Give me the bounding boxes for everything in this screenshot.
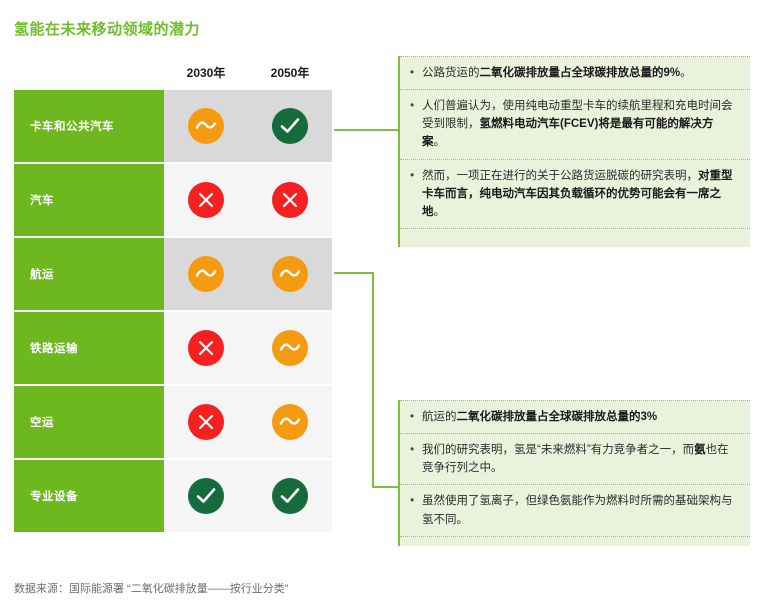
partial-potential-icon: [188, 256, 224, 292]
bullet-item: 人们普遍认为，使用纯电动重型卡车的续航里程和充电时间会受到限制，氢燃料电动汽车(…: [400, 89, 750, 159]
row-label-5: 专业设备: [14, 460, 164, 532]
bullet-item: 公路货运的二氧化碳排放量占全球碳排放总量的9%。: [400, 56, 750, 90]
bullet-text: 。: [680, 67, 692, 79]
cell-r0-c0: [164, 90, 248, 162]
page-title: 氢能在未来移动领域的潜力: [14, 18, 200, 39]
note-panel-shipping: 航运的二氧化碳排放量占全球碳排放总量的3%我们的研究表明，氢是“未来燃料”有力竞…: [398, 400, 750, 546]
row-label-0: 卡车和公共汽车: [14, 90, 164, 162]
cell-r5-c1: [248, 460, 332, 532]
bullet-text: 航运的: [422, 411, 457, 423]
cell-r3-c0: [164, 312, 248, 384]
cell-r4-c0: [164, 386, 248, 458]
cell-r1-c0: [164, 164, 248, 236]
cell-r0-c1: [248, 90, 332, 162]
high-potential-icon: [272, 478, 308, 514]
no-potential-icon: [272, 182, 308, 218]
bullet-text: 。: [434, 136, 446, 148]
table-row: 空运: [14, 386, 332, 458]
row-label-3: 铁路运输: [14, 312, 164, 384]
no-potential-icon: [188, 404, 224, 440]
connector-shipping-to-panel2: [334, 273, 398, 487]
matrix-column-headers: 2030年 2050年: [14, 60, 332, 90]
source-footnote: 数据来源：国际能源署 “二氧化碳排放量——按行业分类”: [14, 580, 288, 596]
bullet-item: 我们的研究表明，氢是“未来燃料”有力竞争者之一，而氨也在竞争行列之中。: [400, 433, 750, 485]
high-potential-icon: [188, 478, 224, 514]
partial-potential-icon: [272, 404, 308, 440]
partial-potential-icon: [272, 256, 308, 292]
cell-r4-c1: [248, 386, 332, 458]
matrix-rows: 卡车和公共汽车汽车航运铁路运输空运专业设备: [14, 90, 332, 532]
bullet-text-strong: 二氧化碳排放量占全球碳排放总量的3%: [457, 411, 658, 423]
bullet-item: 然而，一项正在进行的关于公路货运脱碳的研究表明，对重型卡车而言，纯电动汽车因其负…: [400, 159, 750, 229]
cell-r5-c0: [164, 460, 248, 532]
bullet-text-strong: 二氧化碳排放量占全球碳排放总量的9%: [480, 67, 681, 79]
table-row: 汽车: [14, 164, 332, 236]
cell-r2-c1: [248, 238, 332, 310]
note-panel-road-freight: 公路货运的二氧化碳排放量占全球碳排放总量的9%。人们普遍认为，使用纯电动重型卡车…: [398, 56, 750, 247]
table-row: 铁路运输: [14, 312, 332, 384]
cell-r1-c1: [248, 164, 332, 236]
column-header-2050: 2050年: [248, 64, 332, 81]
potential-matrix: 2030年 2050年 卡车和公共汽车汽车航运铁路运输空运专业设备: [14, 60, 332, 534]
no-potential-icon: [188, 330, 224, 366]
bullet-text-strong: 氨: [694, 444, 706, 456]
row-label-4: 空运: [14, 386, 164, 458]
bullet-text: 。: [434, 206, 446, 218]
cell-r2-c0: [164, 238, 248, 310]
table-row: 卡车和公共汽车: [14, 90, 332, 162]
no-potential-icon: [188, 182, 224, 218]
high-potential-icon: [272, 108, 308, 144]
table-row: 专业设备: [14, 460, 332, 532]
cell-r3-c1: [248, 312, 332, 384]
bullet-text: 我们的研究表明，氢是“未来燃料”有力竞争者之一，而: [422, 444, 694, 456]
table-row: 航运: [14, 238, 332, 310]
column-header-2030: 2030年: [164, 64, 248, 81]
partial-potential-icon: [188, 108, 224, 144]
partial-potential-icon: [272, 330, 308, 366]
bullet-item: 虽然使用了氢离子，但绿色氨能作为燃料时所需的基础架构与氢不同。: [400, 484, 750, 536]
bullet-text: 公路货运的: [422, 67, 480, 79]
bullet-item: 航运的二氧化碳排放量占全球碳排放总量的3%: [400, 400, 750, 434]
row-label-1: 汽车: [14, 164, 164, 236]
bullet-text: 虽然使用了氢离子，但绿色氨能作为燃料时所需的基础架构与氢不同。: [422, 495, 733, 525]
bullet-text: 然而，一项正在进行的关于公路货运脱碳的研究表明，: [422, 170, 698, 182]
row-label-2: 航运: [14, 238, 164, 310]
